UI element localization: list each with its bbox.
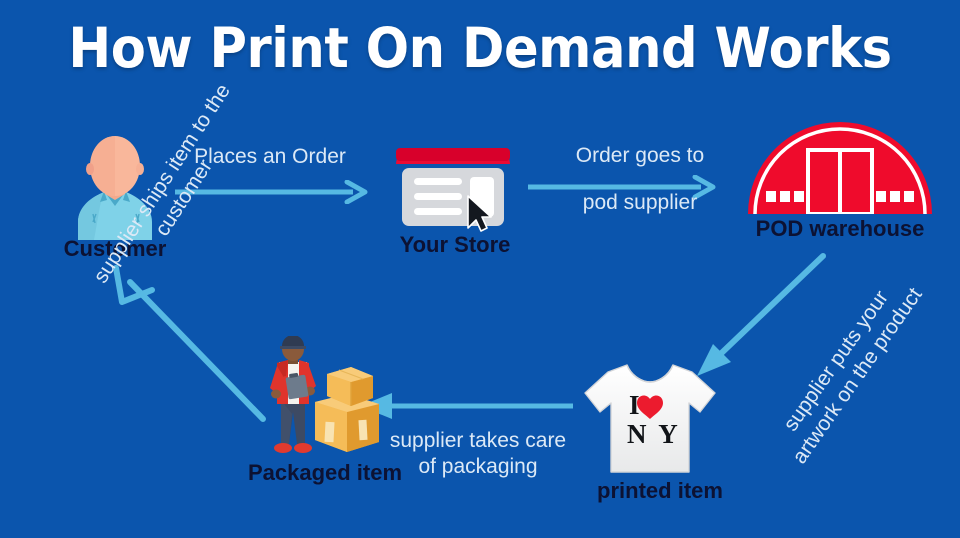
caption-order-goes-to: Order goes to — [540, 143, 740, 169]
node-label-tshirt: printed item — [560, 478, 760, 504]
node-package — [255, 336, 395, 462]
node-store — [392, 140, 514, 232]
caption-line-1: supplier takes care — [378, 428, 578, 454]
node-label-store: Your Store — [360, 232, 550, 258]
tshirt-icon: I N Y — [580, 360, 720, 478]
node-label-warehouse: POD warehouse — [735, 216, 945, 242]
warehouse-dome-icon — [745, 112, 935, 214]
infographic-canvas: How Print On Demand Works Customer Place… — [0, 0, 960, 538]
node-label-package: Packaged item — [210, 460, 440, 486]
delivery-person-boxes-icon — [255, 336, 395, 462]
node-warehouse — [745, 112, 935, 214]
node-tshirt: I N Y — [580, 360, 720, 478]
tshirt-print-line2: N Y — [627, 419, 681, 449]
page-title: How Print On Demand Works — [34, 16, 927, 80]
caption-pod-supplier: pod supplier — [540, 190, 740, 216]
storefront-icon — [392, 140, 514, 232]
